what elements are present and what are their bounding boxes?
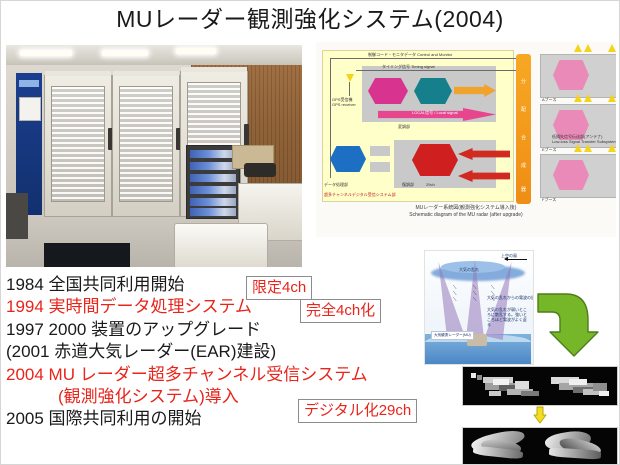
photo-door-sign [19, 97, 41, 121]
beam-label-turbulence: 大気の乱れ [459, 267, 479, 272]
callout-full-4ch: 完全4ch化 [300, 299, 381, 323]
photo-printer [174, 223, 268, 267]
digital-receiver-node [412, 144, 458, 176]
ceiling-light [20, 50, 72, 56]
ceiling-light [102, 50, 148, 56]
spine-label: 配 [518, 106, 529, 113]
photo-monitor [44, 243, 130, 267]
beam-label-upper-wind: 上空の風 [501, 253, 517, 258]
high-resolution-radar-image [462, 427, 618, 465]
diagram-caption-jp: MUレーダー系統図(観測強化システム導入後) [316, 205, 616, 212]
diagram-label-booth-f: Fブース [542, 197, 556, 202]
diagram-label-multichannel-system: 超多チャンネルデジタル受信システム部 [324, 192, 396, 197]
digital-converter-node [414, 78, 452, 104]
diagram-label-data-processing: データ処理部 [324, 182, 348, 187]
diagram-control-line [330, 58, 516, 59]
callout-digital-29ch: デジタル化29ch [298, 399, 417, 423]
page-title: MUレーダー観測強化システム(2004) [0, 4, 620, 34]
gps-antenna-icon [346, 74, 354, 82]
upper-wind-arrow-icon [505, 259, 527, 260]
diagram-caption: MUレーダー系統図(観測強化システム導入後) Schematic diagram… [316, 205, 616, 219]
diagram-label-booth-a: Aブース [542, 97, 556, 102]
yellow-down-arrow-icon [533, 406, 547, 424]
callout-limited-4ch: 限定4ch [246, 276, 312, 300]
server-room-photo [6, 45, 302, 267]
distributor-combiner-spine: 分 配 合 成 器 [516, 54, 531, 204]
diagram-label-booth-e: Eブース [542, 147, 556, 152]
diagram-label-antenna-subsystem-en: Low-loss Signal Transfer Subsystem (Ante… [552, 139, 616, 144]
equipment-rack [112, 75, 180, 217]
spine-label: 器 [518, 186, 529, 193]
interface-box [370, 162, 390, 172]
diagram-label-gps-en: GPS receiver [332, 102, 356, 107]
beam-label-scatter-title: 大気の乱れからの電波の反射 [487, 295, 534, 300]
pulse-generator-node [368, 78, 408, 104]
equipment-rack [44, 75, 112, 217]
tr-booth-f [540, 154, 616, 198]
tr-module-icon [553, 60, 589, 90]
spine-label: 成 [518, 162, 529, 169]
tr-booth-a [540, 54, 616, 98]
beam-label-radar: 大気観測レーダー(MU) [431, 331, 474, 340]
diagram-label-modulator: 変調部 [398, 124, 410, 129]
radar-beam-illustration: ⟍⟍⟍ ⟍⟍⟍ ⟍⟍⟍ 上空の風 大気の乱れ 大気の乱れからの電波の反射 大気の… [424, 250, 534, 365]
diagram-label-local-signal: LOCAL信号 / Local signal [412, 110, 458, 115]
diagram-label-demodulator: 復調部 [402, 182, 414, 187]
photo-desk-unit [6, 193, 28, 239]
ceiling-light [176, 48, 216, 54]
slide-canvas: MUレーダー観測強化システム(2004) [0, 0, 620, 465]
timeline-line-2001: (2001 赤道大気レーダー(EAR)建設) [6, 341, 436, 363]
photo-telephone [244, 163, 276, 177]
photo-door-placard [19, 80, 39, 87]
interface-box [370, 146, 390, 156]
timeline-line-2004: 2004 MU レーダー超多チャンネル受信システム [6, 364, 436, 386]
spine-label: 分 [518, 78, 529, 85]
spine-label: 合 [518, 134, 529, 141]
green-curved-arrow-icon [534, 288, 600, 360]
diagram-label-29ch: 29ch [426, 182, 435, 187]
coarse-resolution-radar-image [462, 366, 618, 406]
diagram-label-control-monitor: 制御コード・モニタデータ Control and Monitor [368, 52, 452, 57]
beam-label-scatter-body: 大気の乱れが弱いところに散乱する。強いところほど電波がよく返る [487, 307, 527, 327]
diagram-label-timing-signal: タイミング信号 Timing signal [382, 64, 435, 69]
diagram-caption-en: Schematic diagram of the MU radar (after… [316, 212, 616, 219]
timeline-line-1984: 1984 全国共同利用開始 [6, 274, 436, 296]
mu-radar-schematic-diagram: 制御コード・モニタデータ Control and Monitor タイミング信号… [316, 42, 616, 237]
tr-module-icon [553, 160, 589, 190]
host-pc-node [330, 146, 366, 172]
diagram-gps-line [349, 82, 350, 96]
diagram-timing-line [356, 70, 516, 71]
